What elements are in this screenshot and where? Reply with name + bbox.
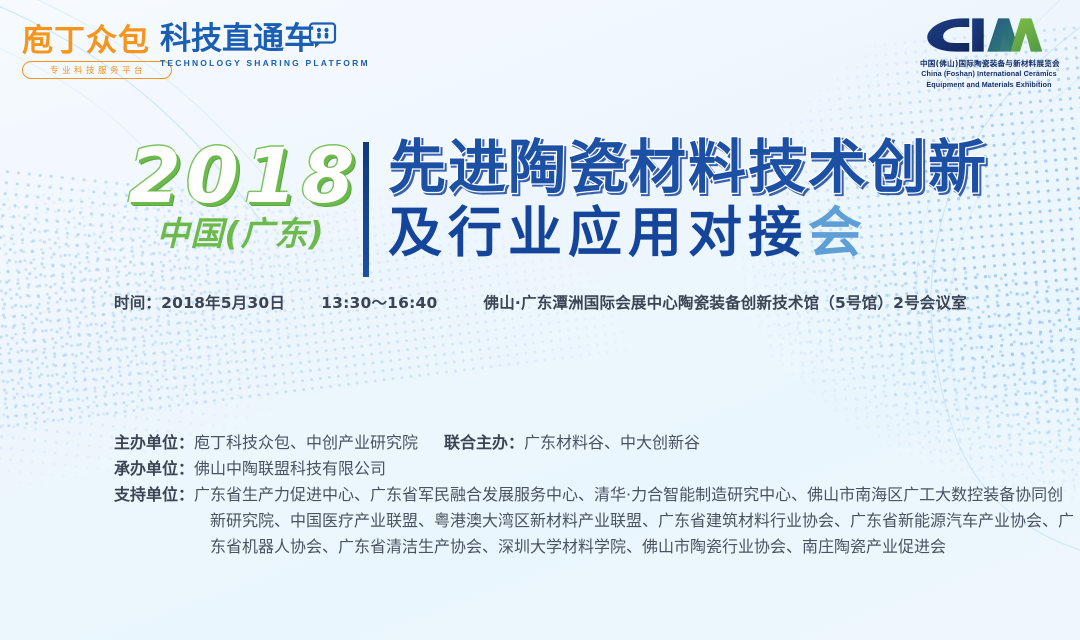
event-region: 中国(广东)	[128, 216, 353, 252]
event-poster: 庖丁众包 专业科技服务平台 科技直通车 TECHNOLOGY SHARING P…	[0, 0, 1080, 640]
event-title-line2-main: 及行业应用对接	[388, 201, 808, 264]
year-region-block: 2018 中国(广东)	[128, 138, 353, 252]
support-label: 支持单位：	[114, 485, 194, 504]
cohost-value: 广东材料谷、中大创新谷	[524, 433, 700, 452]
logo-tsp-tagline: TECHNOLOGY SHARING PLATFORM	[160, 58, 345, 68]
event-date: 2018年5月30日	[161, 294, 285, 312]
event-title-line2-accent: 会	[808, 201, 868, 264]
cohost-label: 联合主办：	[444, 433, 524, 452]
headline-block: 2018 中国(广东) 先进陶瓷材料技术创新 及行业应用对接会	[0, 138, 1080, 288]
organizer-value: 佛山中陶联盟科技有限公司	[194, 459, 386, 478]
logo-technology-sharing-platform[interactable]: 科技直通车 TECHNOLOGY SHARING PLATFORM	[160, 22, 345, 68]
cim-name-cn: 中国(佛山)国际陶瓷装备与新材料展览会	[920, 59, 1058, 68]
organizer-label: 承办单位：	[114, 459, 194, 478]
logo-bar: 庖丁众包 专业科技服务平台 科技直通车 TECHNOLOGY SHARING P…	[0, 0, 1080, 100]
support-value: 广东省生产力促进中心、广东省军民融合发展服务中心、清华·力合智能制造研究中心、佛…	[194, 485, 1074, 556]
host-label: 主办单位：	[114, 433, 194, 452]
event-city: 佛山	[484, 294, 515, 312]
cim-name-en-line1: China (Foshan) International Ceramics	[920, 69, 1058, 79]
host-row: 主办单位：庖丁科技众包、中创产业研究院联合主办：广东材料谷、中大创新谷	[114, 430, 1004, 456]
event-title-line1: 先进陶瓷材料技术创新	[388, 134, 988, 200]
cim-wordmark-icon	[920, 14, 1058, 56]
time-label: 时间：	[114, 294, 161, 312]
logo-paoding-tagline: 专业科技服务平台	[22, 61, 172, 79]
logo-tsp-name: 科技直通车	[160, 22, 345, 56]
event-venue: 广东潭洲国际会展中心陶瓷装备创新技术馆（5号馆）2号会议室	[521, 294, 967, 312]
logo-cim-exhibition[interactable]: 中国(佛山)国际陶瓷装备与新材料展览会 China (Foshan) Inter…	[920, 14, 1058, 89]
organizer-block: 主办单位：庖丁科技众包、中创产业研究院联合主办：广东材料谷、中大创新谷 承办单位…	[114, 430, 1004, 560]
logo-paoding-name: 庖丁众包	[22, 24, 172, 58]
cim-name-en-line2: Equipment and Materials Exhibition	[920, 80, 1058, 90]
support-row: 支持单位：广东省生产力促进中心、广东省军民融合发展服务中心、清华·力合智能制造研…	[114, 482, 1076, 560]
host-value: 庖丁科技众包、中创产业研究院	[194, 433, 418, 452]
logo-paoding-crowdsourcing[interactable]: 庖丁众包 专业科技服务平台	[22, 24, 172, 79]
headline-divider	[363, 142, 369, 277]
event-time-range: 13:30～16:40	[321, 294, 437, 312]
event-title: 先进陶瓷材料技术创新 及行业应用对接会	[388, 134, 988, 264]
event-title-line2: 及行业应用对接会	[388, 202, 988, 264]
event-meta-line: 时间：2018年5月30日13:30～16:40佛山·广东潭洲国际会展中心陶瓷装…	[114, 291, 967, 313]
event-year: 2018	[128, 138, 353, 214]
organizer-row: 承办单位：佛山中陶联盟科技有限公司	[114, 456, 1004, 482]
